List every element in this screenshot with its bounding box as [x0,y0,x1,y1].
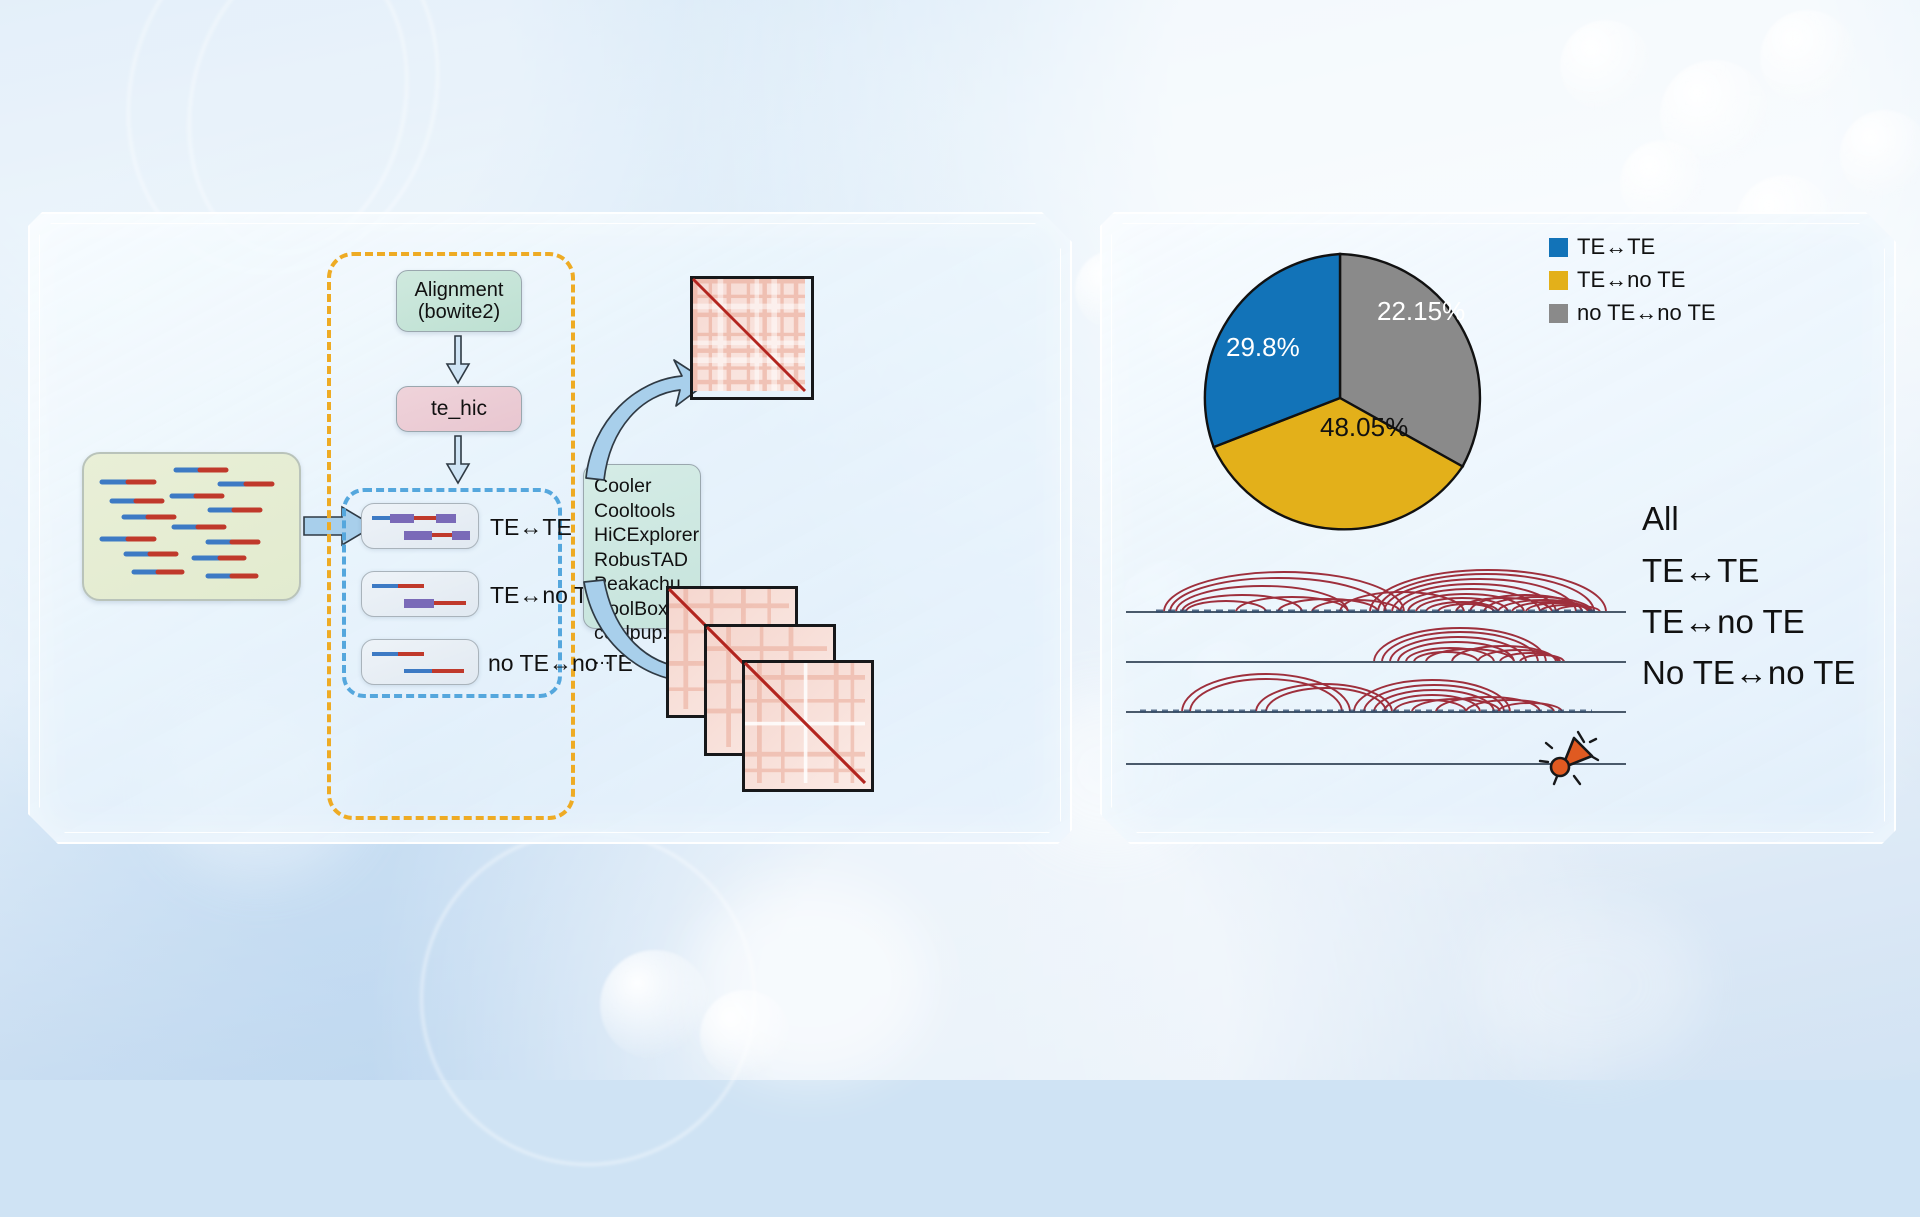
class-row-te-te-box [361,503,479,549]
light-blob [690,880,930,1080]
legend-swatch-te-note [1549,271,1568,290]
pie-chart [1190,248,1490,548]
molecule-decor [1840,110,1920,200]
paired-end-reads [84,454,299,599]
pie-legend: TE↔TE TE↔no TE no TE↔no TE [1549,234,1716,326]
pie-label-te-note: 48.05% [1320,412,1408,443]
legend-label-note-note: no TE↔no TE [1577,300,1716,326]
read-pair-te-te [362,504,478,548]
pie-label-te-te: 29.8% [1226,332,1300,363]
workflow-content: Alignment (bowite2) te_hic [30,214,1070,842]
molecule-decor [1760,10,1856,106]
light-blob [1480,900,1700,1070]
step-tehic-label: te_hic [431,397,487,421]
hic-matrix-render [745,663,865,783]
input-reads-box [82,452,301,601]
results-panel: 29.8% 22.15% 48.05% TE↔TE TE↔no TE no TE… [1100,212,1896,844]
class-row-note-note-box [361,639,479,685]
arrow-to-single-matrix [570,354,710,484]
arc-label-te-te: TE↔TE [1642,552,1759,590]
legend-entry: TE↔TE [1549,234,1716,260]
step-alignment-line2: (bowite2) [415,301,504,323]
tool-item: RobusTAD [594,548,699,573]
arc-label-te-note: TE↔no TE [1642,603,1805,641]
workflow-panel: Alignment (bowite2) te_hic [28,212,1072,844]
legend-label-te-note: TE↔no TE [1577,267,1685,293]
arc-label-all: All [1642,500,1679,538]
molecule-decor [1560,20,1652,112]
hic-matrix-render [693,279,805,391]
legend-swatch-te-te [1549,238,1568,257]
hic-matrix-front [742,660,874,792]
tool-item: Cooltools [594,499,699,524]
arrow-alignment-to-tehic [444,334,472,386]
hic-contact-matrix [690,276,814,400]
class-row-te-note-box [361,571,479,617]
stacked-hic-matrices [666,586,876,786]
step-alignment-line1: Alignment [415,279,504,301]
tool-item: HiCExplorer [594,523,699,548]
legend-entry: TE↔no TE [1549,267,1716,293]
step-tehic-box: te_hic [396,386,522,432]
results-content: 29.8% 22.15% 48.05% TE↔TE TE↔no TE no TE… [1102,214,1894,842]
class-label-te-te: TE↔TE [490,514,572,541]
read-pair-note-note [362,640,478,684]
arrow-tehic-to-classes [444,434,472,486]
pie-label-note-note: 22.15% [1377,296,1465,327]
legend-label-te-te: TE↔TE [1577,234,1655,260]
legend-swatch-note-note [1549,304,1568,323]
arc-label-note-note: No TE↔no TE [1642,654,1855,692]
click-cursor-icon [1534,726,1600,788]
legend-entry: no TE↔no TE [1549,300,1716,326]
step-alignment-box: Alignment (bowite2) [396,270,522,332]
read-pair-te-note [362,572,478,616]
